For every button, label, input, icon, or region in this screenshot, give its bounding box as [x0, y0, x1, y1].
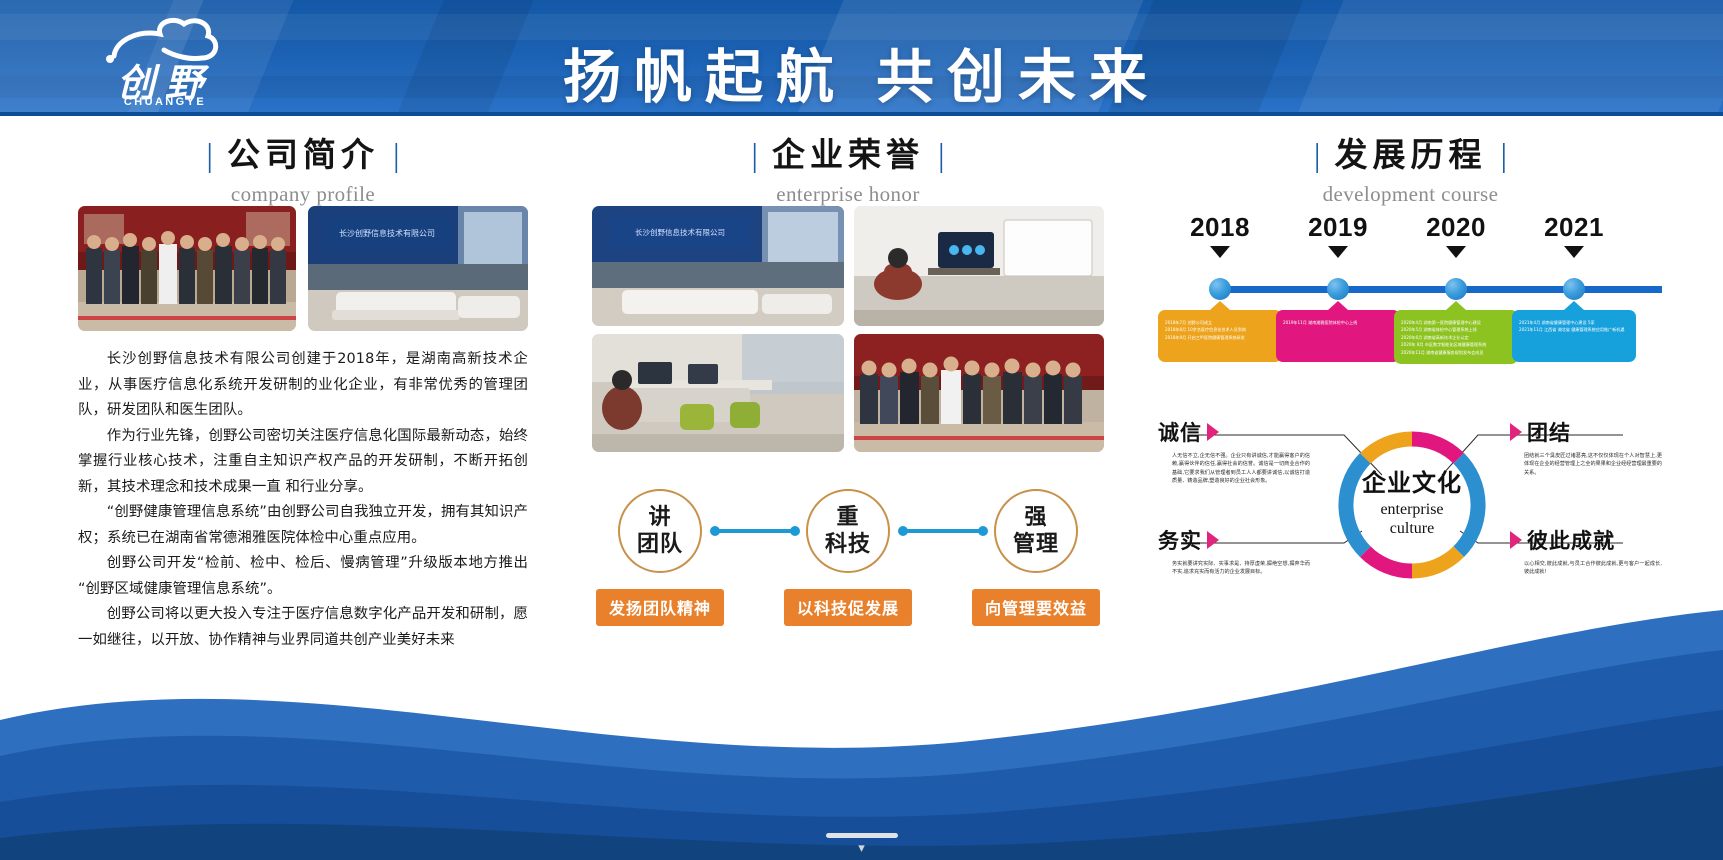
flow-connector-1 — [714, 529, 796, 533]
flow-node-team[interactable]: 讲 团队 — [618, 489, 702, 573]
timeline-dot-2018 — [1209, 278, 1231, 300]
timeline-event-2020-3: 2020年6月 湖南省高新技术企业认定 — [1401, 334, 1511, 341]
flow-node-technology[interactable]: 重 科技 — [806, 489, 890, 573]
culture-item-pragmatism: 务实 务实就要讲究实际、实事求是、持厚虚荣,摒绝空想,摒弃华而不实,追求充实而有… — [1158, 525, 1310, 577]
arrow-right-icon-pragmatism — [1207, 531, 1219, 549]
caret-down-icon-2018 — [1210, 246, 1230, 258]
timeline-dot-2021 — [1563, 278, 1585, 300]
section-cn-text-1: 公司简介 — [227, 138, 379, 174]
honor-flow-diagram: 讲 团队 重 科技 强 管理 发扬团队精神 以科技促发展 向管理要效益 — [592, 489, 1104, 619]
culture-center-label: 企业文化 enterprise culture — [1334, 427, 1490, 583]
title-bar-left-1: | — [192, 138, 227, 174]
title-bar-right-3: | — [1487, 138, 1522, 174]
arrow-right-icon-unity — [1510, 423, 1522, 441]
profile-paragraph-2: 作为行业先锋，创野公司密切关注医疗信息化国际最新动态，始终掌握行业核心技术，注重… — [78, 424, 528, 501]
section-heading-company-profile: |公司简介| company profile — [78, 138, 528, 207]
timeline-item-2019[interactable]: 2019 2019年11月 湖南湘雅医院体检中心上线 — [1276, 214, 1400, 258]
culture-item-unity: 团结 团结就三个臭皮匠过诸葛亮,这不仅仅体现在个人对智慧上,更体现在企业的经营管… — [1510, 417, 1662, 477]
culture-body-integrity: 人无信不立,企无信不强。企业只有讲诚信,才能赢得客户的信赖,赢得伙伴的信任,赢得… — [1158, 452, 1310, 486]
staff-group-photo — [854, 334, 1104, 452]
timeline-card-2019: 2019年11月 湖南湘雅医院体检中心上线 — [1276, 310, 1400, 362]
timeline-event-2018-3: 2018年9月 开启三甲医院健康管理系统研发 — [1165, 334, 1275, 341]
timeline-event-2020-2: 2020年5月 湖南省体检中心管理系统上线 — [1401, 326, 1511, 333]
timeline-card-2021: 2021年4月 湖南省健康管理中心建设 5家 2021年11月 江西省 湖北省 … — [1512, 310, 1636, 362]
open-office-photo — [592, 334, 844, 452]
culture-title-unity: 团结 — [1527, 417, 1571, 447]
profile-paragraph-1: 长沙创野信息技术有限公司创建于2018年，是湖南高新技术企业，从事医疗信息化系统… — [78, 347, 528, 424]
title-bar-left-3: | — [1300, 138, 1335, 174]
culture-item-mutual-achievement: 彼此成就 以心相交,彼此成就,与员工合作彼此成就,更与客户一起成长,彼此成就! — [1510, 525, 1662, 577]
page-title: 扬帆起航 共创未来 — [0, 30, 1723, 114]
culture-center-en-line1: enterprise — [1380, 501, 1443, 520]
section-cn-text-3: 发展历程 — [1335, 138, 1487, 174]
section-heading-enterprise-honor: |企业荣誉| enterprise honor — [592, 138, 1104, 207]
culture-title-pragmatism: 务实 — [1158, 525, 1202, 555]
caret-down-icon-2020 — [1446, 246, 1466, 258]
meeting-presentation-photo — [854, 206, 1104, 326]
culture-item-mutual-achievement-head: 彼此成就 — [1510, 525, 1662, 555]
timeline-event-2020-5: 2020年11月 湖南省健康服务规划发布会成员 — [1401, 349, 1511, 356]
title-bar-left-2: | — [737, 138, 772, 174]
svg-text:长沙创野信息技术有限公司: 长沙创野信息技术有限公司 — [339, 228, 435, 238]
flow-node-2-line2: 科技 — [825, 531, 871, 558]
honor-photo-grid: 长沙创野信息技术有限公司 — [592, 206, 1104, 451]
culture-item-integrity-head: 诚信 — [1158, 417, 1310, 447]
company-profile-photos: 长沙创野信息技术有限公司 — [78, 206, 528, 331]
arrow-right-icon-mutual — [1510, 531, 1522, 549]
flow-node-3-line1: 强 — [1024, 504, 1047, 531]
company-profile-text: 长沙创野信息技术有限公司创建于2018年，是湖南高新技术企业，从事医疗信息化系统… — [78, 347, 528, 653]
culture-item-pragmatism-head: 务实 — [1158, 525, 1310, 555]
section-heading-development-course: |发展历程| development course — [1158, 138, 1663, 207]
timeline-card-2018: 2018年7月 创野公司成立 2018年8月 10余名医疗信息化技术人员到岗 2… — [1158, 310, 1282, 362]
section-title-cn-2: |企业荣誉| — [592, 138, 1104, 174]
section-title-cn-3: |发展历程| — [1158, 138, 1663, 174]
caret-down-icon-2019 — [1328, 246, 1348, 258]
timeline-event-2020-4: 2020年 8月 市区数字智能化区域健康管理系统 — [1401, 341, 1511, 348]
timeline-year-2019: 2019 — [1276, 214, 1400, 240]
scroll-indicator[interactable] — [826, 833, 898, 838]
culture-center-en-line2: culture — [1380, 520, 1443, 539]
office-reception-photo: 长沙创野信息技术有限公司 — [592, 206, 844, 326]
timeline-year-2021: 2021 — [1512, 214, 1636, 240]
section-title-en-3: development course — [1158, 182, 1663, 207]
caret-down-icon-2021 — [1564, 246, 1584, 258]
content-area: ▾ |公司简介| company profile — [0, 116, 1723, 860]
timeline-event-2018-2: 2018年8月 10余名医疗信息化技术人员到岗 — [1165, 326, 1275, 333]
section-title-cn-1: |公司简介| — [78, 138, 528, 174]
timeline-event-2018-1: 2018年7月 创野公司成立 — [1165, 319, 1275, 326]
section-title-en-2: enterprise honor — [592, 182, 1104, 207]
culture-center-cn: 企业文化 — [1362, 471, 1462, 499]
flow-tag-management-benefit: 向管理要效益 — [972, 589, 1100, 626]
profile-paragraph-5: 创野公司将以更大投入专注于医疗信息数字化产品开发和研制，愿一如继往，以开放、协作… — [78, 602, 528, 653]
title-bar-right-2: | — [924, 138, 959, 174]
timeline-item-2021[interactable]: 2021 2021年4月 湖南省健康管理中心建设 5家 2021年11月 江西省… — [1512, 214, 1636, 258]
flow-tag-team-spirit: 发扬团队精神 — [596, 589, 724, 626]
office-reception-photo-image: 长沙创野信息技术有限公司 — [592, 206, 844, 326]
section-title-en-1: company profile — [78, 182, 528, 207]
flow-node-2-line1: 重 — [836, 504, 859, 531]
flow-node-1-line1: 讲 — [648, 504, 671, 531]
profile-paragraph-3: “创野健康管理信息系统”由创野公司自我独立开发，拥有其知识产权；系统已在湖南省常… — [78, 500, 528, 551]
timeline-year-2018: 2018 — [1158, 214, 1282, 240]
title-bar-right-1: | — [379, 138, 414, 174]
flow-node-1-line2: 团队 — [637, 531, 683, 558]
svg-text:长沙创野信息技术有限公司: 长沙创野信息技术有限公司 — [635, 227, 725, 237]
culture-body-unity: 团结就三个臭皮匠过诸葛亮,这不仅仅体现在个人对智慧上,更体现在企业的经营管理上之… — [1510, 452, 1662, 477]
timeline: 2018 2018年7月 创野公司成立 2018年8月 10余名医疗信息化技术人… — [1158, 214, 1663, 399]
section-cn-text-2: 企业荣誉 — [772, 138, 924, 174]
column-company-profile: 长沙创野信息技术有限公司 长沙创野信息技术有限公司创建于2018年，是湖南高新技… — [78, 206, 528, 653]
flow-node-3-line2: 管理 — [1013, 531, 1059, 558]
timeline-event-2020-1: 2020年4月 湖南第一医院健康管理中心建设 — [1401, 319, 1511, 326]
culture-title-mutual-achievement: 彼此成就 — [1527, 525, 1615, 555]
enterprise-culture-diagram: 企业文化 enterprise culture 诚信 人无信不立,企无信不强。企… — [1158, 413, 1663, 613]
staff-group-photo-image — [854, 334, 1104, 452]
culture-wall-board: 创野 CHUANGYE 扬帆起航 共创未来 ▾ |公司简介| company p… — [0, 0, 1723, 860]
timeline-event-2021-1: 2021年4月 湖南省健康管理中心建设 5家 — [1519, 319, 1629, 326]
culture-center-en: enterprise culture — [1380, 501, 1443, 539]
column-development-course: 2018 2018年7月 创野公司成立 2018年8月 10余名医疗信息化技术人… — [1158, 206, 1663, 613]
profile-paragraph-4: 创野公司开发“检前、检中、检后、慢病管理”升级版本地方推出“创野区域健康管理信息… — [78, 551, 528, 602]
culture-body-pragmatism: 务实就要讲究实际、实事求是、持厚虚荣,摒绝空想,摒弃华而不实,追求充实而有活力的… — [1158, 560, 1310, 577]
meeting-presentation-photo-image — [854, 206, 1104, 326]
flow-tag-tech-development: 以科技促发展 — [784, 589, 912, 626]
team-group-photo — [78, 206, 296, 331]
timeline-event-2019-1: 2019年11月 湖南湘雅医院体检中心上线 — [1283, 319, 1393, 326]
scroll-hint: ▾ — [0, 841, 1723, 854]
culture-item-unity-head: 团结 — [1510, 417, 1662, 447]
timeline-year-2020: 2020 — [1394, 214, 1518, 240]
culture-item-integrity: 诚信 人无信不立,企无信不强。企业只有讲诚信,才能赢得客户的信赖,赢得伙伴的信任… — [1158, 417, 1310, 486]
flow-node-management[interactable]: 强 管理 — [994, 489, 1078, 573]
timeline-card-2020: 2020年4月 湖南第一医院健康管理中心建设 2020年5月 湖南省体检中心管理… — [1394, 310, 1518, 364]
culture-title-integrity: 诚信 — [1158, 417, 1202, 447]
flow-connector-2 — [902, 529, 984, 533]
header-banner: 创野 CHUANGYE 扬帆起航 共创未来 — [0, 0, 1723, 116]
timeline-item-2020[interactable]: 2020 2020年4月 湖南第一医院健康管理中心建设 2020年5月 湖南省体… — [1394, 214, 1518, 258]
column-enterprise-honor: 长沙创野信息技术有限公司 — [592, 206, 1104, 619]
timeline-item-2018[interactable]: 2018 2018年7月 创野公司成立 2018年8月 10余名医疗信息化技术人… — [1158, 214, 1282, 258]
culture-body-mutual-achievement: 以心相交,彼此成就,与员工合作彼此成就,更与客户一起成长,彼此成就! — [1510, 560, 1662, 577]
timeline-dot-2019 — [1327, 278, 1349, 300]
timeline-dot-2020 — [1445, 278, 1467, 300]
office-lobby-photo-image: 长沙创野信息技术有限公司 — [308, 206, 528, 331]
team-group-photo-image — [78, 206, 296, 331]
arrow-right-icon-integrity — [1207, 423, 1219, 441]
open-office-photo-image — [592, 334, 844, 452]
timeline-event-2021-2: 2021年11月 江西省 湖北省 健康管理系统应用推广新机遇 — [1519, 326, 1629, 333]
timeline-rail — [1220, 286, 1662, 293]
office-lobby-photo: 长沙创野信息技术有限公司 — [308, 206, 528, 331]
